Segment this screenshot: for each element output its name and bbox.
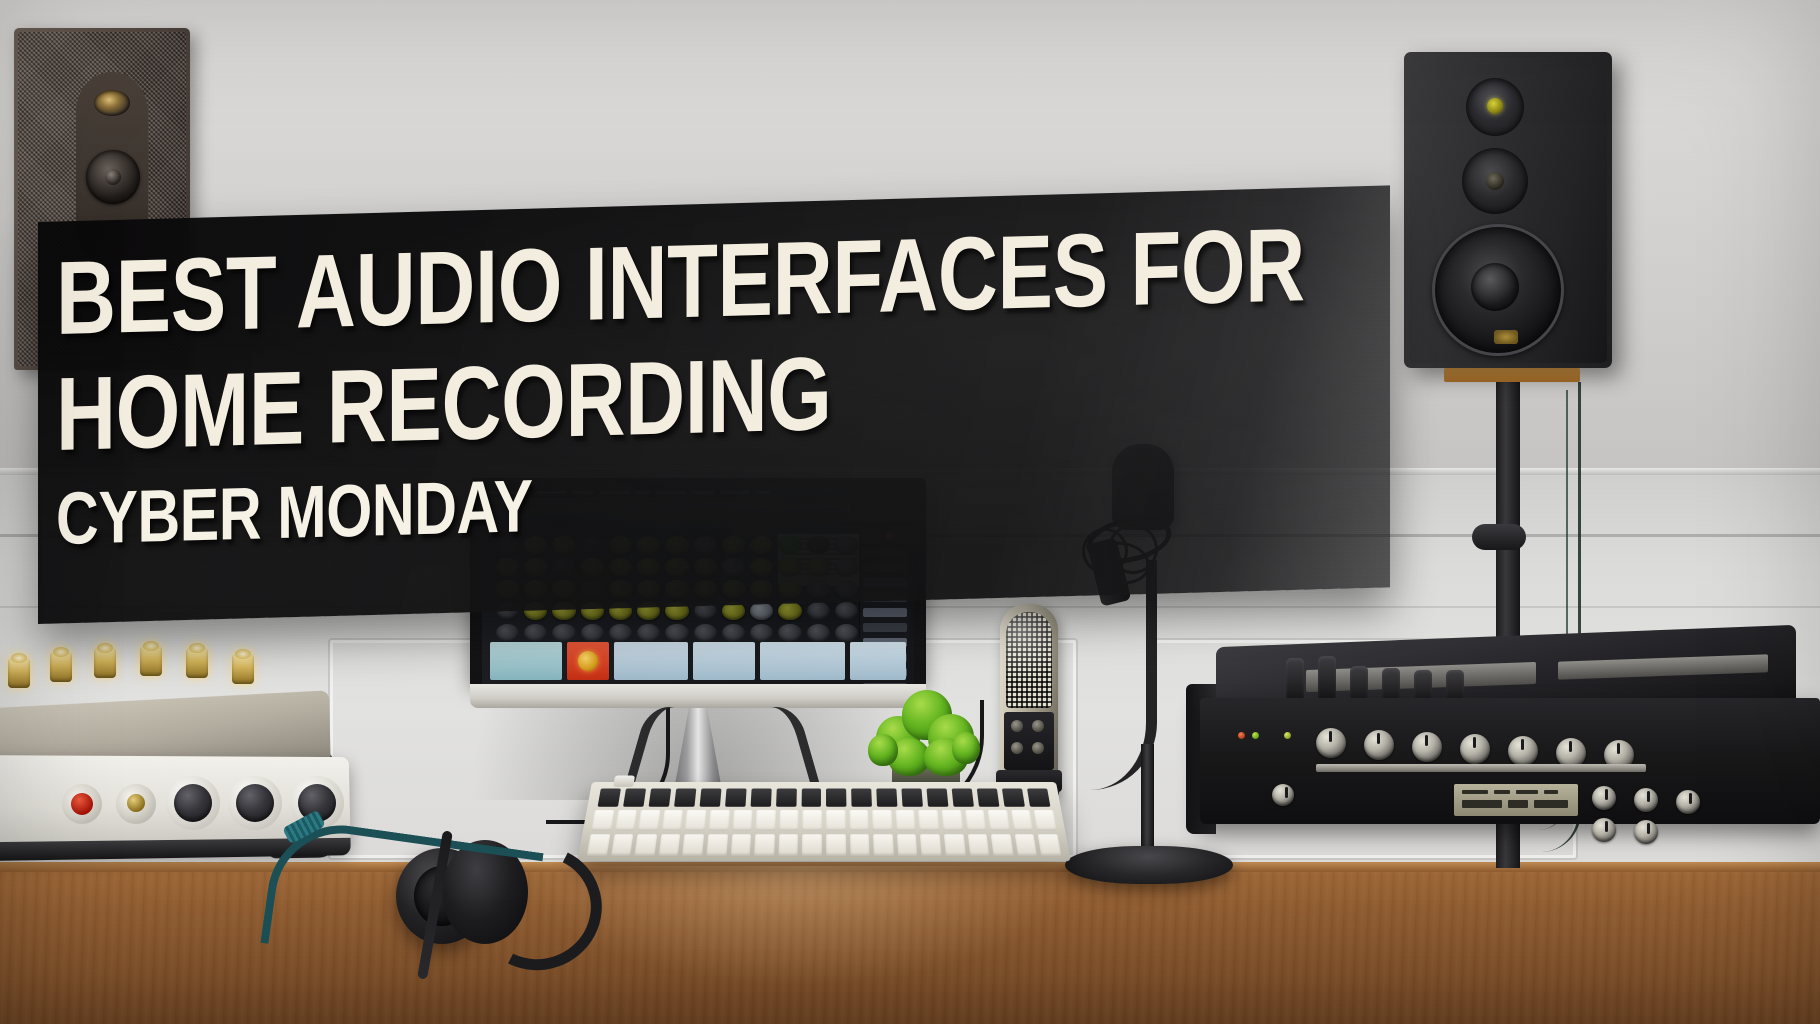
keyboard-logo xyxy=(613,776,635,787)
keyboard-key[interactable] xyxy=(1027,789,1050,807)
keyboard-key[interactable] xyxy=(699,789,721,807)
keyboard-key[interactable] xyxy=(730,834,751,855)
monitor-bezel-bottom xyxy=(470,684,926,708)
keyboard-key[interactable] xyxy=(826,810,845,831)
keyboard-key[interactable] xyxy=(803,810,822,831)
rack-knob[interactable] xyxy=(1316,728,1346,758)
rack-knob[interactable] xyxy=(1460,734,1490,764)
keyboard-white-keys-row1[interactable] xyxy=(591,810,1057,831)
microphone-grill-icon xyxy=(1006,612,1052,708)
keyboard-key[interactable] xyxy=(682,834,704,855)
keyboard-key[interactable] xyxy=(611,834,634,855)
rack-fader[interactable] xyxy=(1318,656,1336,703)
studio-monitor-right xyxy=(1404,52,1612,368)
microphone-control-panel xyxy=(1004,712,1054,770)
keyboard-key[interactable] xyxy=(952,789,974,807)
rack-small-knob[interactable] xyxy=(1272,784,1294,806)
daw-pad[interactable] xyxy=(581,624,604,642)
keyboard-key[interactable] xyxy=(706,834,727,855)
keyboard-key[interactable] xyxy=(826,789,846,807)
interface-gold-knob[interactable] xyxy=(8,658,30,688)
daw-pad[interactable] xyxy=(524,624,547,642)
keyboard-key[interactable] xyxy=(873,834,894,855)
record-button[interactable] xyxy=(567,642,609,680)
daw-pad[interactable] xyxy=(778,624,801,642)
keyboard-key[interactable] xyxy=(991,834,1013,855)
interface-gold-knob[interactable] xyxy=(50,652,72,682)
keyboard-key[interactable] xyxy=(674,789,696,807)
keyboard-key[interactable] xyxy=(988,810,1010,831)
rack-knob[interactable] xyxy=(1412,732,1442,762)
rack-knob[interactable] xyxy=(1364,730,1394,760)
rack-label-strip xyxy=(1316,764,1646,772)
keyboard-key[interactable] xyxy=(1034,810,1057,831)
keyboard-key[interactable] xyxy=(977,789,1000,807)
rack-led-green xyxy=(1252,732,1259,739)
rack-led-red xyxy=(1238,732,1245,739)
keyboard-key[interactable] xyxy=(942,810,963,831)
daw-clip-1[interactable] xyxy=(614,642,688,680)
keyboard-key[interactable] xyxy=(1038,834,1061,855)
keyboard-key[interactable] xyxy=(965,810,987,831)
tweeter-left-icon xyxy=(94,90,130,116)
keyboard-key[interactable] xyxy=(615,810,637,831)
keyboard-white-keys-row2[interactable] xyxy=(587,834,1062,855)
daw-pad[interactable] xyxy=(665,624,688,642)
interface-gold-knob[interactable] xyxy=(232,654,254,684)
keyboard-key[interactable] xyxy=(779,810,799,831)
keyboard-key[interactable] xyxy=(591,810,614,831)
keyboard-key[interactable] xyxy=(902,789,923,807)
interface-gain-knob[interactable] xyxy=(228,776,282,830)
keyboard-key[interactable] xyxy=(732,810,752,831)
keyboard-black-keys[interactable] xyxy=(598,789,1051,807)
daw-pad[interactable] xyxy=(552,624,575,642)
keyboard-key[interactable] xyxy=(967,834,989,855)
plant xyxy=(868,676,980,780)
tweeter-right-icon xyxy=(1466,78,1524,136)
keyboard-key[interactable] xyxy=(598,789,621,807)
interface-gold-knob[interactable] xyxy=(140,646,162,676)
keyboard-key[interactable] xyxy=(801,789,821,807)
daw-pad[interactable] xyxy=(778,602,801,620)
rack-small-knob[interactable] xyxy=(1634,820,1658,844)
daw-pad[interactable] xyxy=(807,624,830,642)
keyboard-key[interactable] xyxy=(944,834,966,855)
keyboard-key[interactable] xyxy=(778,834,798,855)
daw-clip-3[interactable] xyxy=(760,642,845,680)
rack-small-knob[interactable] xyxy=(1634,788,1658,812)
daw-pad[interactable] xyxy=(750,624,773,642)
keyboard-key[interactable] xyxy=(648,789,671,807)
keyboard-key[interactable] xyxy=(897,834,918,855)
rack-led-yellow xyxy=(1284,732,1291,739)
interface-gold-knob[interactable] xyxy=(186,648,208,678)
keyboard-key[interactable] xyxy=(725,789,746,807)
daw-pad[interactable] xyxy=(694,624,717,642)
keyboard-key[interactable] xyxy=(658,834,680,855)
keyboard-key[interactable] xyxy=(927,789,949,807)
rack-small-knob[interactable] xyxy=(1592,786,1616,810)
keyboard-key[interactable] xyxy=(802,834,822,855)
keyboard-key[interactable] xyxy=(920,834,941,855)
keyboard-key[interactable] xyxy=(638,810,660,831)
title-banner xyxy=(38,185,1390,624)
daw-pad[interactable] xyxy=(835,624,858,642)
keyboard-key[interactable] xyxy=(850,834,870,855)
rack-display xyxy=(1454,784,1578,816)
rack-small-knob[interactable] xyxy=(1592,818,1616,842)
keyboard-key[interactable] xyxy=(750,789,771,807)
midrange-right-icon xyxy=(1462,148,1528,214)
daw-pad[interactable] xyxy=(609,624,632,642)
keyboard-key[interactable] xyxy=(685,810,706,831)
rca-jack-red[interactable] xyxy=(62,784,102,824)
rack-mixer xyxy=(1186,636,1820,868)
rack-knob[interactable] xyxy=(1508,736,1538,766)
daw-side-row[interactable] xyxy=(863,623,907,632)
banner-texture xyxy=(38,185,1390,624)
daw-pad[interactable] xyxy=(835,602,858,620)
daw-pad[interactable] xyxy=(637,624,660,642)
daw-transport-bar[interactable] xyxy=(490,642,906,680)
keyboard-key[interactable] xyxy=(709,810,730,831)
keyboard-key[interactable] xyxy=(1011,810,1033,831)
midi-keyboard[interactable] xyxy=(577,782,1071,861)
trs-jack-gold[interactable] xyxy=(116,784,156,824)
speaker-logo-right xyxy=(1494,330,1518,344)
daw-pad[interactable] xyxy=(722,624,745,642)
keyboard-key[interactable] xyxy=(852,789,873,807)
interface-volume-knob[interactable] xyxy=(166,776,220,830)
daw-pad[interactable] xyxy=(496,624,519,642)
daw-side-row[interactable] xyxy=(863,608,907,617)
daw-pad[interactable] xyxy=(807,602,830,620)
keyboard-key[interactable] xyxy=(1002,789,1025,807)
keyboard-key[interactable] xyxy=(1014,834,1037,855)
keyboard-key[interactable] xyxy=(756,810,776,831)
rack-small-knob[interactable] xyxy=(1676,790,1700,814)
keyboard-key[interactable] xyxy=(754,834,775,855)
keyboard-key[interactable] xyxy=(895,810,915,831)
keyboard-key[interactable] xyxy=(776,789,797,807)
keyboard-key[interactable] xyxy=(623,789,646,807)
daw-clip-teal[interactable] xyxy=(490,642,562,680)
keyboard-key[interactable] xyxy=(877,789,898,807)
keyboard-key[interactable] xyxy=(662,810,684,831)
keyboard-key[interactable] xyxy=(587,834,610,855)
desk-reflection xyxy=(520,866,1080,986)
keyboard-key[interactable] xyxy=(918,810,939,831)
microphone-stand-pole xyxy=(1141,744,1154,860)
keyboard-key[interactable] xyxy=(826,834,846,855)
daw-clip-2[interactable] xyxy=(693,642,755,680)
keyboard-key[interactable] xyxy=(849,810,869,831)
studio-banner-image: BEST AUDIO INTERFACES FOR HOME RECORDING… xyxy=(0,0,1820,1024)
interface-gold-knob[interactable] xyxy=(94,648,116,678)
daw-pad[interactable] xyxy=(750,602,773,620)
speaker-isolation-pad xyxy=(1444,368,1580,382)
woofer-left-icon xyxy=(86,150,140,204)
daw-clip-4[interactable] xyxy=(850,642,906,680)
keyboard-key[interactable] xyxy=(872,810,892,831)
keyboard-key[interactable] xyxy=(635,834,657,855)
